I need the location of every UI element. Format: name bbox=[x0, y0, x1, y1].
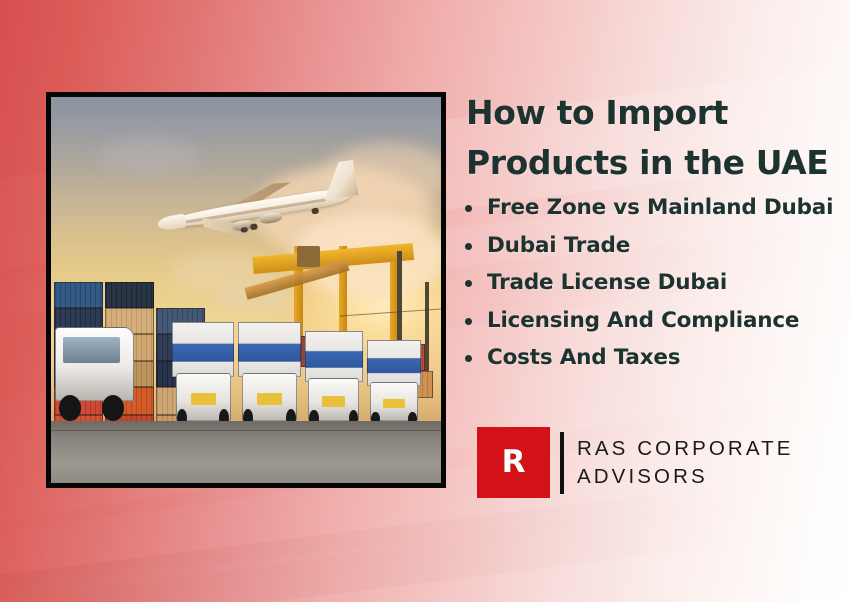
truck-plate bbox=[191, 393, 216, 405]
tarmac-ground bbox=[51, 421, 441, 483]
truck-plate bbox=[322, 396, 345, 407]
page-title: How to Import Products in the UAE bbox=[466, 88, 838, 188]
logo-letter: R bbox=[502, 447, 526, 478]
list-item-label: Dubai Trade bbox=[487, 233, 630, 258]
ground-line bbox=[51, 430, 441, 431]
list-item-label: Free Zone vs Mainland Dubai bbox=[487, 195, 833, 220]
delivery-truck bbox=[238, 322, 300, 422]
truck-trailer bbox=[172, 322, 234, 378]
topic-list: Free Zone vs Mainland Dubai Dubai Trade … bbox=[462, 190, 842, 378]
list-item: Free Zone vs Mainland Dubai bbox=[462, 190, 842, 227]
truck-trailer bbox=[367, 340, 422, 385]
poster-canvas: How to Import Products in the UAE Free Z… bbox=[0, 0, 850, 602]
photo-frame bbox=[46, 92, 446, 488]
shipping-container bbox=[54, 282, 103, 308]
lorry-windshield bbox=[63, 337, 120, 363]
list-item: Dubai Trade bbox=[462, 228, 842, 265]
list-item-label: Trade License Dubai bbox=[487, 270, 727, 295]
truck-plate bbox=[383, 399, 405, 409]
list-item-label: Licensing And Compliance bbox=[487, 308, 799, 333]
company-name: RAS CORPORATE ADVISORS bbox=[577, 435, 793, 489]
delivery-truck bbox=[172, 322, 234, 422]
logistics-photo bbox=[51, 97, 441, 483]
lorry-wheel bbox=[59, 395, 81, 421]
delivery-truck bbox=[367, 340, 422, 421]
airplane-nose bbox=[157, 214, 187, 232]
crane-cabin bbox=[297, 246, 319, 267]
list-item: Licensing And Compliance bbox=[462, 303, 842, 340]
cloud bbox=[98, 136, 199, 175]
background-streak bbox=[0, 485, 850, 602]
truck-trailer bbox=[238, 322, 300, 378]
brand-logo: R RAS CORPORATE ADVISORS bbox=[477, 427, 793, 498]
airplane-landing-gear bbox=[251, 224, 258, 230]
list-item-label: Costs And Taxes bbox=[487, 345, 680, 370]
list-item: Costs And Taxes bbox=[462, 340, 842, 377]
truck-trailer bbox=[305, 331, 364, 382]
shipping-container bbox=[105, 282, 154, 308]
list-item: Trade License Dubai bbox=[462, 265, 842, 302]
white-lorry bbox=[55, 321, 156, 421]
logo-divider bbox=[560, 432, 564, 494]
delivery-truck bbox=[305, 331, 364, 421]
truck-plate bbox=[257, 393, 282, 405]
lorry-wheel bbox=[102, 395, 124, 421]
airplane-landing-gear bbox=[312, 208, 319, 214]
logo-mark: R bbox=[477, 427, 550, 498]
